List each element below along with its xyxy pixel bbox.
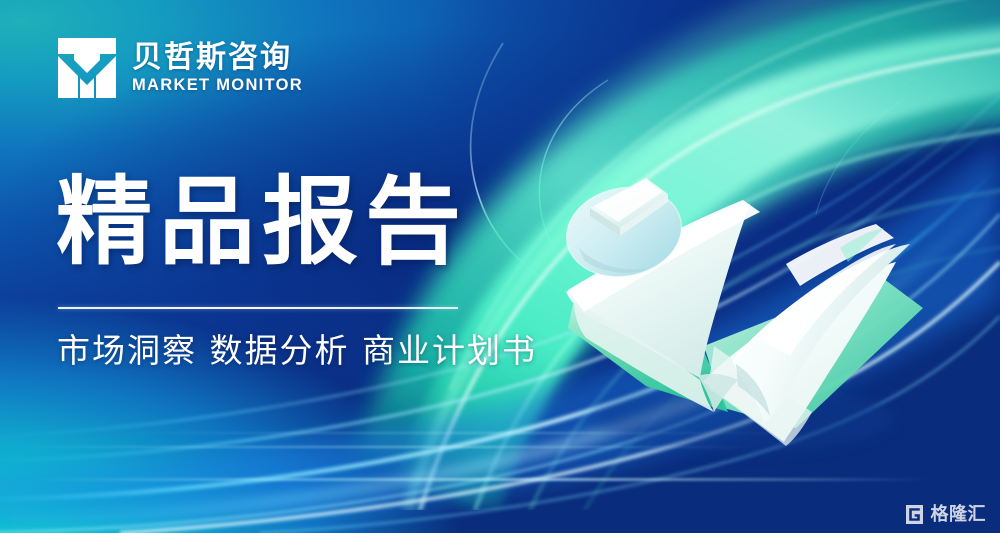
- watermark-label: 格隆汇: [931, 506, 987, 524]
- page-title: 精品报告: [56, 174, 468, 270]
- g-square-icon: [904, 504, 925, 525]
- brand-name-en: MARKET MONITOR: [132, 77, 303, 94]
- brand-logo: 贝哲斯咨询 MARKET MONITOR: [56, 36, 303, 100]
- watermark: 格隆汇: [904, 504, 987, 525]
- brand-logo-text: 贝哲斯咨询 MARKET MONITOR: [132, 43, 303, 94]
- title-divider: [58, 307, 458, 309]
- m-monogram-icon: [56, 36, 118, 100]
- report-banner: 贝哲斯咨询 MARKET MONITOR 精品报告 市场洞察 数据分析 商业计划…: [0, 0, 1000, 533]
- page-subtitle: 市场洞察 数据分析 商业计划书: [57, 330, 537, 371]
- brand-name-cn: 贝哲斯咨询: [132, 43, 303, 73]
